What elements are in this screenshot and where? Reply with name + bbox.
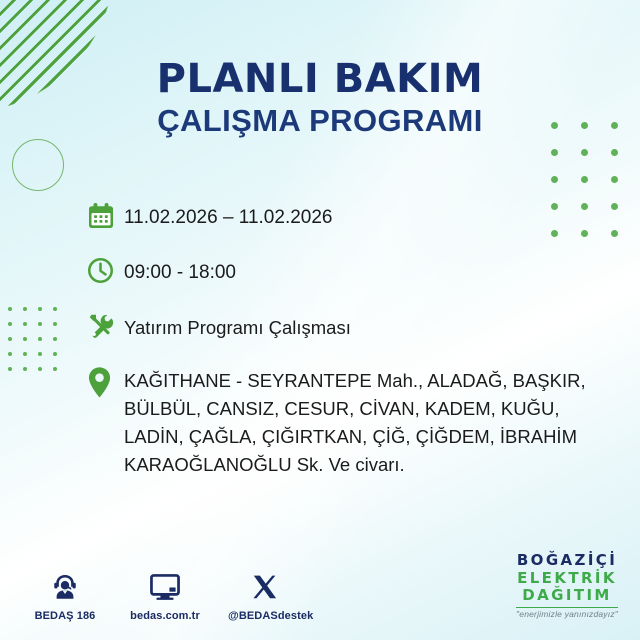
brand-divider	[516, 607, 618, 609]
footer-item-label: bedas.com.tr	[128, 610, 202, 622]
x-twitter-icon	[228, 570, 302, 604]
location-value: KAĞITHANE - SEYRANTEPE Mah., ALADAĞ, BAŞ…	[124, 365, 594, 479]
brand-slogan: "enerjimizle yanınızdayız"	[516, 610, 618, 620]
location-pin-icon	[86, 365, 124, 404]
calendar-icon	[86, 200, 124, 239]
page-title: PLANLI BAKIM ÇALIŞMA PROGRAMI	[0, 58, 640, 141]
headset-support-icon	[28, 570, 102, 604]
dot-grid-left-decoration	[8, 307, 68, 382]
date-range-value: 11.02.2026 – 11.02.2026	[124, 200, 333, 232]
footer-item-x-account[interactable]: @BEDASdestek	[228, 570, 302, 622]
info-list: 11.02.2026 – 11.02.2026 09:00 - 18:00	[86, 200, 620, 479]
brand-line-elektrik: ELEKTRİK	[516, 570, 618, 587]
footer-item-label: @BEDASdestek	[228, 610, 302, 622]
footer-item-website[interactable]: bedas.com.tr	[128, 570, 202, 622]
info-row-time: 09:00 - 18:00	[86, 255, 620, 294]
bedas-logo: BOĞAZİÇİ ELEKTRİK DAĞITIM "enerjimizle y…	[516, 552, 618, 620]
brand-line-bogazici: BOĞAZİÇİ	[516, 552, 618, 569]
info-row-date: 11.02.2026 – 11.02.2026	[86, 200, 620, 239]
info-row-work-type: Yatırım Programı Çalışması	[86, 310, 620, 349]
time-range-value: 09:00 - 18:00	[124, 255, 236, 287]
footer-contact-list: BEDAŞ 186 bedas.com.tr @BEDASdestek	[28, 570, 302, 622]
work-type-value: Yatırım Programı Çalışması	[124, 310, 351, 341]
info-row-location: KAĞITHANE - SEYRANTEPE Mah., ALADAĞ, BAŞ…	[86, 365, 620, 479]
brand-line-dagitim: DAĞITIM	[516, 587, 618, 604]
planned-maintenance-poster: PLANLI BAKIM ÇALIŞMA PROGRAMI	[0, 0, 640, 640]
tools-icon	[86, 310, 124, 349]
page-title-line2: ÇALIŞMA PROGRAMI	[0, 102, 640, 141]
footer-item-support-line[interactable]: BEDAŞ 186	[28, 570, 102, 622]
page-title-line1: PLANLI BAKIM	[0, 58, 640, 100]
footer-item-label: BEDAŞ 186	[28, 610, 102, 622]
clock-icon	[86, 255, 124, 294]
monitor-website-icon	[128, 570, 202, 604]
circle-outline-decoration	[12, 139, 64, 191]
